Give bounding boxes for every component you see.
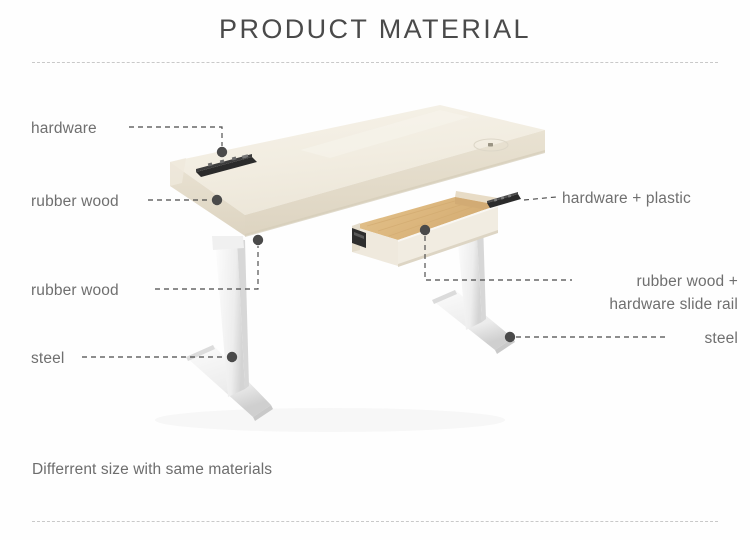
callout-hardware: hardware [31,118,97,140]
slide-rail-hardware-right [487,192,521,208]
callout-hardware-plastic: hardware + plastic [562,188,691,210]
ground-shadow [155,408,505,432]
callout-rubber-wood-slide-rail-line1: rubber wood + [637,271,738,293]
product-illustration [0,0,750,540]
callout-rubber-wood-top: rubber wood [31,191,119,213]
left-leg [186,236,273,421]
infographic-page: PRODUCT MATERIAL [0,0,750,540]
footer-note: Differrent size with same materials [32,461,272,479]
callout-rubber-wood-slide-rail-line2: hardware slide rail [609,294,738,316]
callout-steel-right: steel [705,328,739,350]
callout-rubber-wood-edge: rubber wood [31,280,119,302]
callout-steel-left: steel [31,348,65,370]
divider-bottom [32,521,718,522]
